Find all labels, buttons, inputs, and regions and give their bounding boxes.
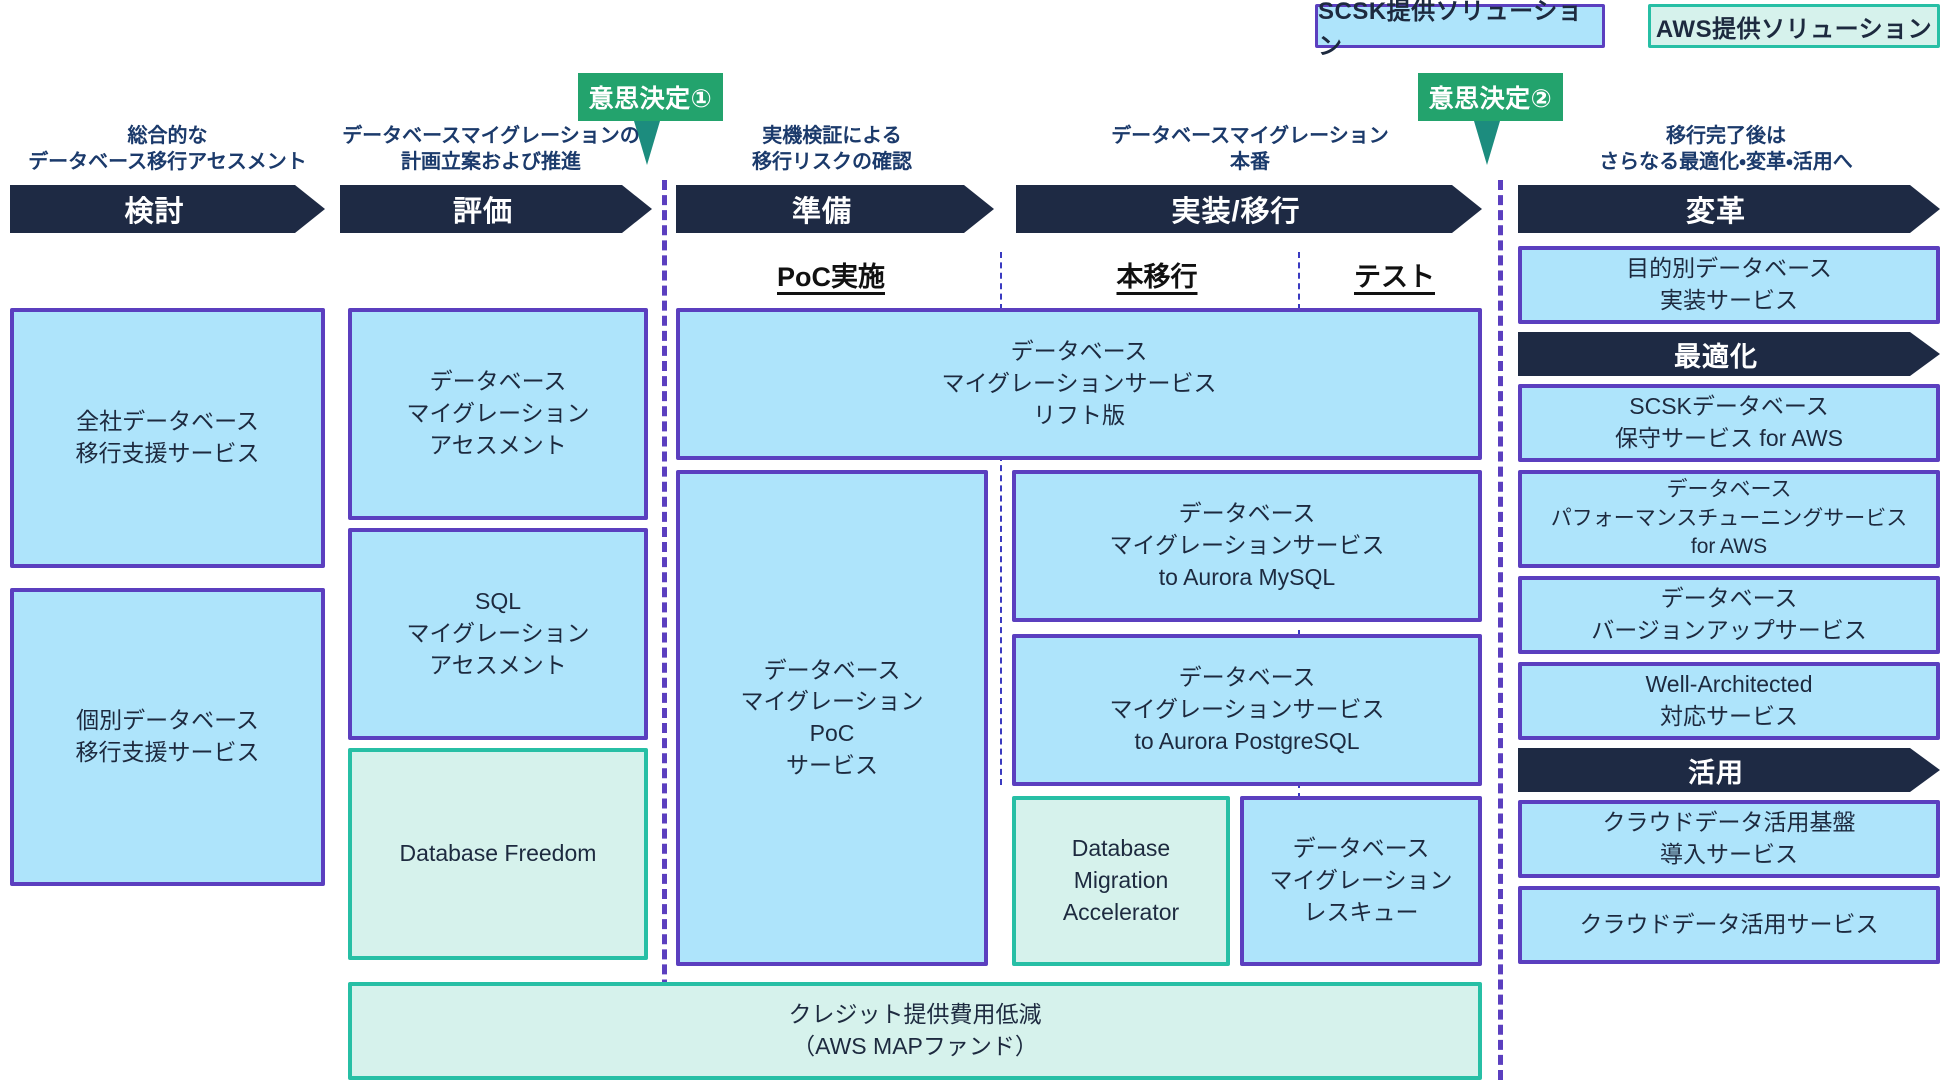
service-label: データベース マイグレーション レスキュー bbox=[1269, 833, 1452, 928]
service-box-well-architected[interactable]: Well-Architected 対応サービス bbox=[1518, 662, 1940, 740]
legend-aws-solution: AWS提供ソリューション bbox=[1648, 4, 1940, 48]
service-box-db-migration-assessment[interactable]: データベース マイグレーション アセスメント bbox=[348, 308, 648, 520]
service-box-migration-lift[interactable]: データベース マイグレーションサービス リフト版 bbox=[676, 308, 1482, 460]
stage-caption-kento: 総合的な データベース移行アセスメント bbox=[10, 124, 325, 175]
service-box-db-version-up[interactable]: データベース バージョンアップサービス bbox=[1518, 576, 1940, 654]
subphase-test: テスト bbox=[1302, 255, 1487, 294]
stage-arrow-hyoka[interactable]: 評価 bbox=[340, 185, 652, 233]
stage-caption-junbi: 実機検証による 移行リスクの確認 bbox=[672, 124, 992, 175]
service-box-cloud-data-kiban[interactable]: クラウドデータ活用基盤 導入サービス bbox=[1518, 800, 1940, 878]
stage-arrow-junbi-label: 準備 bbox=[792, 188, 852, 230]
service-box-to-aurora-mysql[interactable]: データベース マイグレーションサービス to Aurora MySQL bbox=[1012, 470, 1482, 622]
service-label: SQL マイグレーション アセスメント bbox=[406, 586, 589, 681]
service-label: データベース マイグレーションサービス to Aurora PostgreSQL bbox=[1109, 662, 1384, 757]
service-label: クラウドデータ活用サービス bbox=[1580, 909, 1879, 941]
service-label: データベース バージョンアップサービス bbox=[1591, 583, 1867, 646]
subphase-divider-2 bbox=[1298, 252, 1300, 310]
service-label: 目的別データベース 実装サービス bbox=[1626, 253, 1832, 316]
service-box-database-migration-accelerator[interactable]: Database Migration Accelerator bbox=[1012, 796, 1230, 966]
stage-caption-jisso: データベースマイグレーション 本番 bbox=[1010, 124, 1490, 175]
decision-2-badge: 意思決定② bbox=[1418, 73, 1563, 121]
legend-scsk-label: SCSK提供ソリューション bbox=[1318, 0, 1602, 61]
subphase-divider-1 bbox=[1000, 252, 1002, 310]
service-label: Well-Architected 対応サービス bbox=[1645, 669, 1812, 732]
service-label: 個別データベース 移行支援サービス bbox=[76, 705, 260, 768]
credit-bar-aws-map-fund[interactable]: クレジット提供費用低減 （AWS MAPファンド） bbox=[348, 982, 1482, 1080]
stage-arrow-junbi[interactable]: 準備 bbox=[676, 185, 994, 233]
credit-bar-label: クレジット提供費用低減 （AWS MAPファンド） bbox=[789, 999, 1042, 1062]
stage-arrow-henkaku-label: 変革 bbox=[1686, 188, 1746, 230]
service-box-sql-migration-assessment[interactable]: SQL マイグレーション アセスメント bbox=[348, 528, 648, 740]
service-label: データベース パフォーマンスチューニングサービス for AWS bbox=[1551, 476, 1908, 563]
decision-1-badge: 意思決定① bbox=[578, 73, 723, 121]
section-header-katsuyo[interactable]: 活用 bbox=[1518, 748, 1940, 792]
subphase-poc: PoC実施 bbox=[676, 255, 986, 294]
service-label: SCSKデータベース 保守サービス for AWS bbox=[1615, 391, 1843, 454]
service-label: クラウドデータ活用基盤 導入サービス bbox=[1603, 807, 1856, 870]
stage-arrow-hyoka-label: 評価 bbox=[453, 188, 513, 230]
service-box-migration-rescue[interactable]: データベース マイグレーション レスキュー bbox=[1240, 796, 1482, 966]
service-label: 全社データベース 移行支援サービス bbox=[76, 406, 260, 469]
stage-caption-henkaku: 移行完了後は さらなる最適化・変革・活用へ bbox=[1512, 124, 1940, 175]
service-label: Database Freedom bbox=[400, 838, 597, 870]
section-header-label: 活用 bbox=[1688, 751, 1744, 790]
legend-aws-label: AWS提供ソリューション bbox=[1656, 9, 1932, 44]
stage-arrow-jisso-label: 実装/移行 bbox=[1171, 188, 1300, 230]
service-box-db-performance-tuning[interactable]: データベース パフォーマンスチューニングサービス for AWS bbox=[1518, 470, 1940, 568]
stage-arrow-jisso[interactable]: 実装/移行 bbox=[1016, 185, 1482, 233]
service-label: データベース マイグレーションサービス to Aurora MySQL bbox=[1109, 498, 1384, 593]
service-box-database-freedom[interactable]: Database Freedom bbox=[348, 748, 648, 960]
service-box-mokutekibetsu-db[interactable]: 目的別データベース 実装サービス bbox=[1518, 246, 1940, 324]
stage-arrow-henkaku[interactable]: 変革 bbox=[1518, 185, 1940, 233]
phase-divider-right bbox=[1498, 180, 1503, 1080]
stage-arrow-kento[interactable]: 検討 bbox=[10, 185, 325, 233]
stage-caption-hyoka: データベースマイグレーションの 計画立案および推進 bbox=[332, 124, 650, 175]
service-box-zensha-db-migration[interactable]: 全社データベース 移行支援サービス bbox=[10, 308, 325, 568]
service-label: Database Migration Accelerator bbox=[1063, 833, 1179, 928]
service-box-scsk-db-hoshu[interactable]: SCSKデータベース 保守サービス for AWS bbox=[1518, 384, 1940, 462]
service-box-kobetsu-db-migration[interactable]: 個別データベース 移行支援サービス bbox=[10, 588, 325, 886]
decision-2-label: 意思決定② bbox=[1429, 79, 1553, 115]
service-label: データベース マイグレーションサービス リフト版 bbox=[941, 336, 1216, 431]
phase-divider-left bbox=[662, 180, 667, 1080]
service-box-cloud-data-katsuyo[interactable]: クラウドデータ活用サービス bbox=[1518, 886, 1940, 964]
subphase-honikou: 本移行 bbox=[1012, 255, 1302, 294]
section-header-saitekika[interactable]: 最適化 bbox=[1518, 332, 1940, 376]
section-header-label: 最適化 bbox=[1674, 335, 1758, 374]
service-box-migration-poc[interactable]: データベース マイグレーション PoC サービス bbox=[676, 470, 988, 966]
subphase-divider-3 bbox=[1000, 455, 1002, 785]
service-label: データベース マイグレーション アセスメント bbox=[406, 366, 589, 461]
service-label: データベース マイグレーション PoC サービス bbox=[740, 655, 923, 782]
stage-arrow-kento-label: 検討 bbox=[124, 188, 184, 230]
decision-1-label: 意思決定① bbox=[589, 79, 713, 115]
service-box-to-aurora-postgresql[interactable]: データベース マイグレーションサービス to Aurora PostgreSQL bbox=[1012, 634, 1482, 786]
legend-scsk-solution: SCSK提供ソリューション bbox=[1315, 4, 1605, 48]
